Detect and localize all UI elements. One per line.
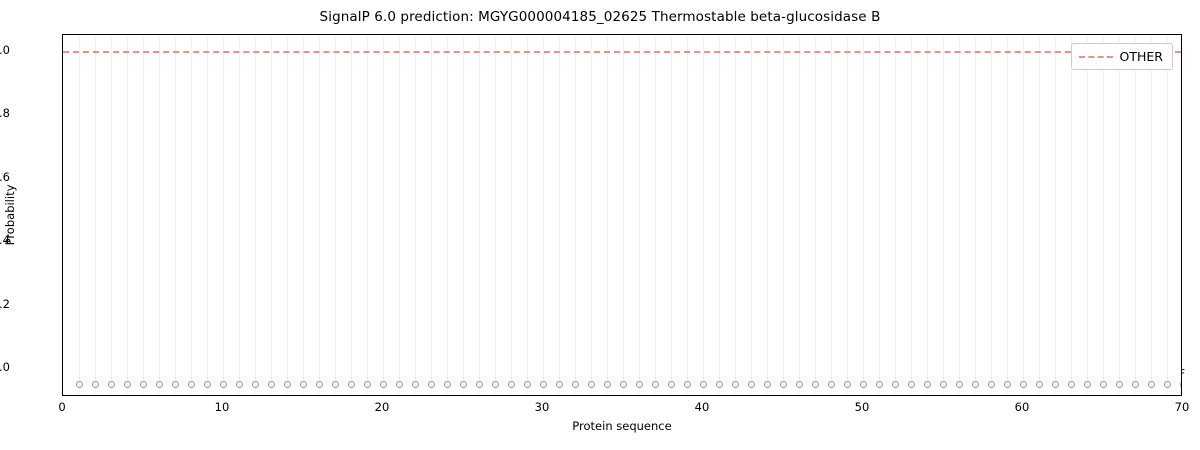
grid-line xyxy=(607,35,608,395)
x-tick-label: 10 xyxy=(215,400,230,414)
y-tick-label: 0.0 xyxy=(0,360,10,374)
residue-marker xyxy=(332,381,339,388)
grid-line xyxy=(1151,35,1152,395)
residue-marker xyxy=(492,381,499,388)
residue-marker xyxy=(428,381,435,388)
grid-line xyxy=(463,35,464,395)
grid-line xyxy=(1119,35,1120,395)
grid-line xyxy=(175,35,176,395)
grid-line xyxy=(671,35,672,395)
grid-line xyxy=(335,35,336,395)
residue-marker xyxy=(140,381,147,388)
grid-line xyxy=(479,35,480,395)
x-tick-label: 0 xyxy=(58,400,65,414)
plot-area: OTHER xyxy=(62,34,1182,396)
residue-marker xyxy=(700,381,707,388)
residue-marker xyxy=(444,381,451,388)
grid-line xyxy=(223,35,224,395)
signalp-prediction-figure: SignalP 6.0 prediction: MGYG000004185_02… xyxy=(0,0,1200,450)
grid-line xyxy=(431,35,432,395)
residue-marker xyxy=(188,381,195,388)
y-tick-mark xyxy=(62,114,63,115)
grid-line xyxy=(447,35,448,395)
grid-line xyxy=(895,35,896,395)
x-tick-label: 50 xyxy=(855,400,870,414)
grid-line xyxy=(1087,35,1088,395)
grid-line xyxy=(319,35,320,395)
grid-line xyxy=(415,35,416,395)
grid-line xyxy=(591,35,592,395)
grid-line xyxy=(863,35,864,395)
x-tick-mark xyxy=(223,395,224,396)
x-tick-mark xyxy=(1023,395,1024,396)
grid-line xyxy=(575,35,576,395)
residue-marker xyxy=(412,381,419,388)
grid-line xyxy=(847,35,848,395)
y-tick-mark xyxy=(62,368,63,369)
residue-marker xyxy=(396,381,403,388)
y-tick-mark xyxy=(62,305,63,306)
residue-marker xyxy=(844,381,851,388)
residue-marker xyxy=(828,381,835,388)
residue-marker xyxy=(204,381,211,388)
residue-marker xyxy=(1164,381,1171,388)
residue-marker xyxy=(380,381,387,388)
residue-marker xyxy=(572,381,579,388)
residue-marker xyxy=(300,381,307,388)
residue-marker xyxy=(604,381,611,388)
residue-marker xyxy=(252,381,259,388)
series-line-other xyxy=(63,51,1181,53)
grid-line xyxy=(1023,35,1024,395)
residue-marker xyxy=(684,381,691,388)
grid-line xyxy=(303,35,304,395)
chart-title: SignalP 6.0 prediction: MGYG000004185_02… xyxy=(0,9,1200,25)
x-tick-label: 70 xyxy=(1175,400,1190,414)
residue-marker xyxy=(940,381,947,388)
grid-line xyxy=(95,35,96,395)
grid-line xyxy=(799,35,800,395)
grid-line xyxy=(959,35,960,395)
residue-marker xyxy=(1180,381,1183,388)
residue-marker xyxy=(92,381,99,388)
grid-line xyxy=(831,35,832,395)
x-axis-label: Protein sequence xyxy=(62,419,1182,433)
residue-marker xyxy=(540,381,547,388)
grid-line xyxy=(767,35,768,395)
y-tick-mark xyxy=(62,241,63,242)
residue-marker xyxy=(764,381,771,388)
residue-marker xyxy=(924,381,931,388)
residue-marker xyxy=(876,381,883,388)
residue-marker xyxy=(972,381,979,388)
residue-marker xyxy=(812,381,819,388)
grid-line xyxy=(623,35,624,395)
y-tick-label: 0.8 xyxy=(0,106,10,120)
residue-marker xyxy=(284,381,291,388)
x-tick-mark xyxy=(703,395,704,396)
residue-marker xyxy=(476,381,483,388)
grid-line xyxy=(1055,35,1056,395)
residue-marker xyxy=(1036,381,1043,388)
grid-line xyxy=(1135,35,1136,395)
y-tick-mark xyxy=(62,178,63,179)
grid-line xyxy=(815,35,816,395)
residue-marker xyxy=(556,381,563,388)
grid-line xyxy=(559,35,560,395)
residue-marker xyxy=(1052,381,1059,388)
grid-line xyxy=(111,35,112,395)
grid-line xyxy=(943,35,944,395)
residue-marker xyxy=(508,381,515,388)
residue-marker xyxy=(316,381,323,388)
grid-line xyxy=(495,35,496,395)
grid-line xyxy=(1167,35,1168,395)
grid-line xyxy=(911,35,912,395)
residue-marker xyxy=(172,381,179,388)
residue-marker xyxy=(236,381,243,388)
residue-marker xyxy=(780,381,787,388)
residue-marker xyxy=(1084,381,1091,388)
x-tick-label: 30 xyxy=(535,400,550,414)
residue-marker xyxy=(796,381,803,388)
grid-line xyxy=(639,35,640,395)
residue-marker xyxy=(668,381,675,388)
y-tick-label: 0.2 xyxy=(0,297,10,311)
grid-line xyxy=(655,35,656,395)
residue-marker xyxy=(524,381,531,388)
grid-line xyxy=(975,35,976,395)
residue-marker xyxy=(1116,381,1123,388)
grid-line xyxy=(191,35,192,395)
residue-marker xyxy=(716,381,723,388)
grid-line xyxy=(255,35,256,395)
grid-line xyxy=(351,35,352,395)
grid-line xyxy=(687,35,688,395)
residue-marker xyxy=(156,381,163,388)
grid-line xyxy=(511,35,512,395)
legend-label-other: OTHER xyxy=(1120,49,1163,64)
residue-marker xyxy=(460,381,467,388)
legend-line-icon xyxy=(1079,56,1113,58)
residue-marker xyxy=(108,381,115,388)
grid-line xyxy=(527,35,528,395)
y-tick-label: 1.0 xyxy=(0,43,10,57)
residue-marker xyxy=(748,381,755,388)
grid-line xyxy=(719,35,720,395)
residue-marker xyxy=(732,381,739,388)
residue-marker xyxy=(652,381,659,388)
residue-marker xyxy=(988,381,995,388)
residue-marker xyxy=(1020,381,1027,388)
grid-line xyxy=(127,35,128,395)
residue-marker xyxy=(636,381,643,388)
residue-marker xyxy=(124,381,131,388)
residue-marker xyxy=(268,381,275,388)
residue-marker xyxy=(76,381,83,388)
grid-line xyxy=(1103,35,1104,395)
x-tick-label: 60 xyxy=(1015,400,1030,414)
grid-line xyxy=(383,35,384,395)
residue-marker xyxy=(220,381,227,388)
grid-line xyxy=(1039,35,1040,395)
grid-line xyxy=(399,35,400,395)
grid-line xyxy=(367,35,368,395)
grid-line xyxy=(751,35,752,395)
grid-line xyxy=(927,35,928,395)
residue-marker xyxy=(1132,381,1139,388)
residue-marker xyxy=(348,381,355,388)
legend[interactable]: OTHER xyxy=(1071,43,1173,70)
x-tick-mark xyxy=(383,395,384,396)
grid-line xyxy=(543,35,544,395)
grid-line xyxy=(79,35,80,395)
grid-line xyxy=(783,35,784,395)
grid-line xyxy=(735,35,736,395)
residue-marker xyxy=(1068,381,1075,388)
grid-line xyxy=(287,35,288,395)
grid-lines xyxy=(63,35,1181,395)
x-tick-label: 20 xyxy=(375,400,390,414)
residue-marker xyxy=(956,381,963,388)
grid-line xyxy=(239,35,240,395)
residue-marker xyxy=(364,381,371,388)
grid-line xyxy=(271,35,272,395)
residue-marker xyxy=(1004,381,1011,388)
x-tick-mark xyxy=(543,395,544,396)
x-tick-mark xyxy=(63,395,64,396)
grid-line xyxy=(1007,35,1008,395)
grid-line xyxy=(207,35,208,395)
grid-line xyxy=(879,35,880,395)
y-tick-label: 0.4 xyxy=(0,233,10,247)
grid-line xyxy=(143,35,144,395)
y-tick-mark xyxy=(62,51,63,52)
residue-marker xyxy=(908,381,915,388)
residue-marker xyxy=(620,381,627,388)
x-tick-label: 40 xyxy=(695,400,710,414)
grid-line xyxy=(159,35,160,395)
residue-marker xyxy=(588,381,595,388)
grid-line xyxy=(991,35,992,395)
grid-line xyxy=(1071,35,1072,395)
residue-marker xyxy=(1100,381,1107,388)
grid-line xyxy=(703,35,704,395)
y-tick-label: 0.6 xyxy=(0,170,10,184)
residue-marker xyxy=(860,381,867,388)
residue-marker xyxy=(892,381,899,388)
residue-marker xyxy=(1148,381,1155,388)
x-tick-mark xyxy=(863,395,864,396)
